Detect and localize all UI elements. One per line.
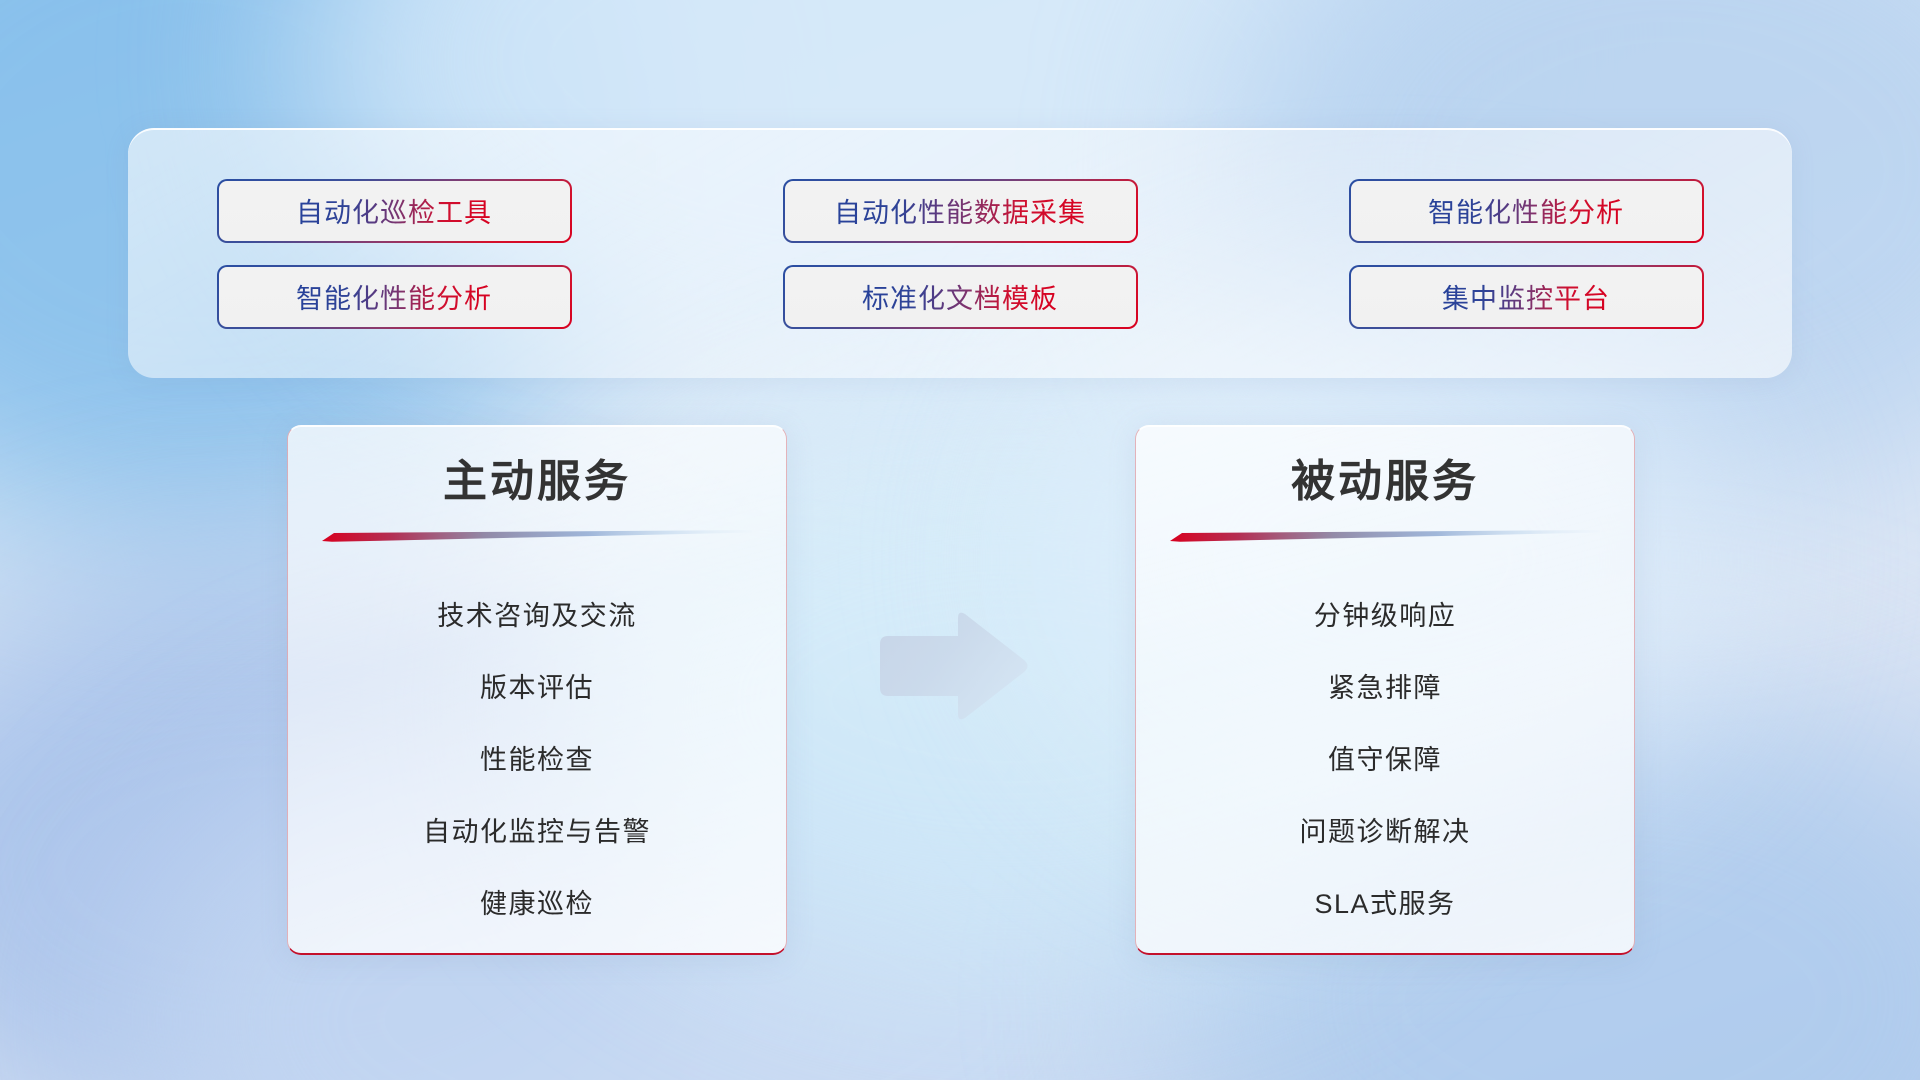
tag-row-2: 智能化性能分析 标准化文档模板 集中监控平台: [196, 265, 1724, 329]
tag-label: 智能化性能分析: [1428, 191, 1624, 230]
list-item: 紧急排障: [1328, 652, 1442, 724]
tag-label: 标准化文档模板: [862, 277, 1058, 316]
tag-intelligent-performance-analysis-2[interactable]: 智能化性能分析: [217, 265, 572, 329]
tag-standardized-doc-template[interactable]: 标准化文档模板: [783, 265, 1138, 329]
tag-centralized-monitoring-platform[interactable]: 集中监控平台: [1349, 265, 1704, 329]
card-active-service[interactable]: 主动服务 技术咨询及交流 版本评估 性能检查: [287, 425, 787, 955]
flow-arrow-right-icon: [872, 608, 1032, 728]
card-list-passive: 分钟级响应 紧急排障 值守保障 问题诊断解决 SLA式服务: [1136, 580, 1634, 940]
card-divider: [322, 530, 752, 542]
list-item: 问题诊断解决: [1300, 796, 1471, 868]
tag-row-1: 自动化巡检工具 自动化性能数据采集 智能化性能分析: [196, 179, 1724, 243]
tag-label: 自动化性能数据采集: [834, 191, 1086, 230]
list-item: 健康巡检: [480, 868, 594, 940]
card-list-active: 技术咨询及交流 版本评估 性能检查 自动化监控与告警 健康巡检: [288, 580, 786, 940]
list-item: 自动化监控与告警: [423, 796, 651, 868]
tag-label: 自动化巡检工具: [296, 191, 492, 230]
tag-intelligent-performance-analysis-1[interactable]: 智能化性能分析: [1349, 179, 1704, 243]
tag-automated-performance-data-collection[interactable]: 自动化性能数据采集: [783, 179, 1138, 243]
card-divider: [1170, 530, 1600, 542]
list-item: 版本评估: [480, 652, 594, 724]
card-title: 被动服务: [1291, 460, 1479, 504]
tag-automated-inspection-tool[interactable]: 自动化巡检工具: [217, 179, 572, 243]
card-passive-service[interactable]: 被动服务 分钟级响应 紧急排障 值守保障: [1135, 425, 1635, 955]
diagram-canvas: 自动化巡检工具 自动化性能数据采集 智能化性能分析 智能化性能分析 标准化文档模…: [0, 0, 1920, 1080]
tag-label: 集中监控平台: [1442, 277, 1610, 316]
list-item: 值守保障: [1328, 724, 1442, 796]
list-item: 性能检查: [480, 724, 594, 796]
card-title: 主动服务: [443, 460, 631, 504]
list-item: SLA式服务: [1314, 868, 1455, 940]
list-item: 技术咨询及交流: [437, 580, 637, 652]
capability-tag-panel: 自动化巡检工具 自动化性能数据采集 智能化性能分析 智能化性能分析 标准化文档模…: [128, 128, 1792, 378]
tag-label: 智能化性能分析: [296, 277, 492, 316]
list-item: 分钟级响应: [1314, 580, 1457, 652]
